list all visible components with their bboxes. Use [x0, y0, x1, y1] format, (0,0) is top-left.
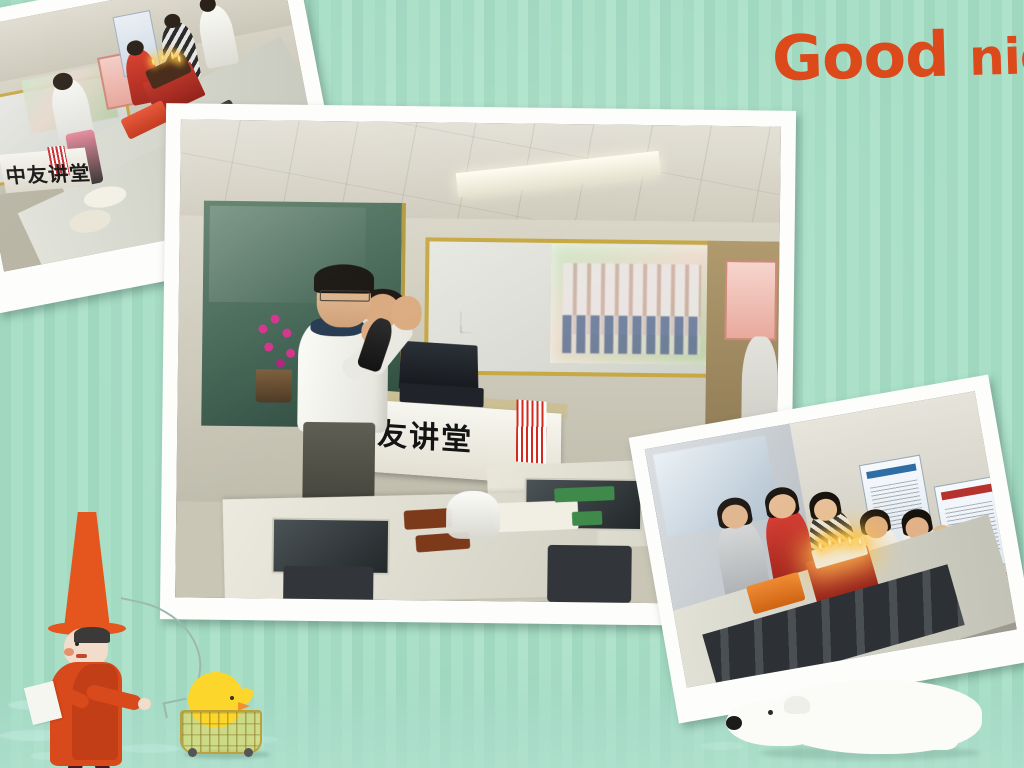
photo-frame-group-around-birthday-cake[interactable] [629, 375, 1024, 724]
tall-cone-hat [64, 512, 110, 628]
cart-wheel [188, 748, 197, 757]
red-wall-poster [724, 260, 777, 341]
scene-cake-group [645, 391, 1017, 687]
man-mouth [76, 654, 87, 658]
man-hair [74, 627, 110, 643]
chair [547, 544, 632, 602]
poster-header-bar [941, 484, 992, 501]
dog-nose-icon [726, 716, 742, 730]
dog-ear [784, 696, 810, 714]
dog-leg [924, 730, 958, 750]
flower [282, 328, 291, 337]
flower [264, 342, 273, 351]
dog-leg [876, 732, 910, 752]
flower [276, 358, 285, 367]
whiteboard-handwriting [460, 266, 557, 334]
dog-eye [768, 710, 773, 715]
collage-canvas: Good night [0, 0, 1024, 768]
cart-wheel [244, 748, 253, 757]
flower [286, 348, 295, 357]
podium-red-stripes [516, 400, 547, 464]
title-word-good: Good [771, 18, 949, 96]
man-cheek-blush [64, 648, 74, 656]
yellow-chick-cart-illustration [178, 672, 274, 758]
plastic-bag [446, 491, 501, 539]
flower [258, 324, 267, 333]
page-title: Good night [771, 11, 1017, 103]
title-word-night: night [968, 25, 1024, 87]
speaker-hand-raised [391, 296, 421, 330]
podium-caption-a: 中友讲堂 [3, 157, 92, 189]
food-tray [494, 500, 579, 532]
man-hand [138, 698, 151, 710]
chair [283, 565, 373, 604]
poster-header-bar [866, 463, 917, 479]
man-eye [75, 642, 79, 646]
photo-image-group-around-birthday-cake [645, 391, 1017, 687]
flower [270, 314, 279, 323]
man-coat-shading [72, 664, 118, 760]
flower-pot [256, 369, 292, 403]
projected-group-photo-lower [562, 315, 700, 355]
green-package [572, 511, 603, 527]
speaker-glasses [320, 290, 370, 302]
chick-eye [230, 696, 234, 700]
sleeping-white-dog-illustration [726, 676, 986, 762]
